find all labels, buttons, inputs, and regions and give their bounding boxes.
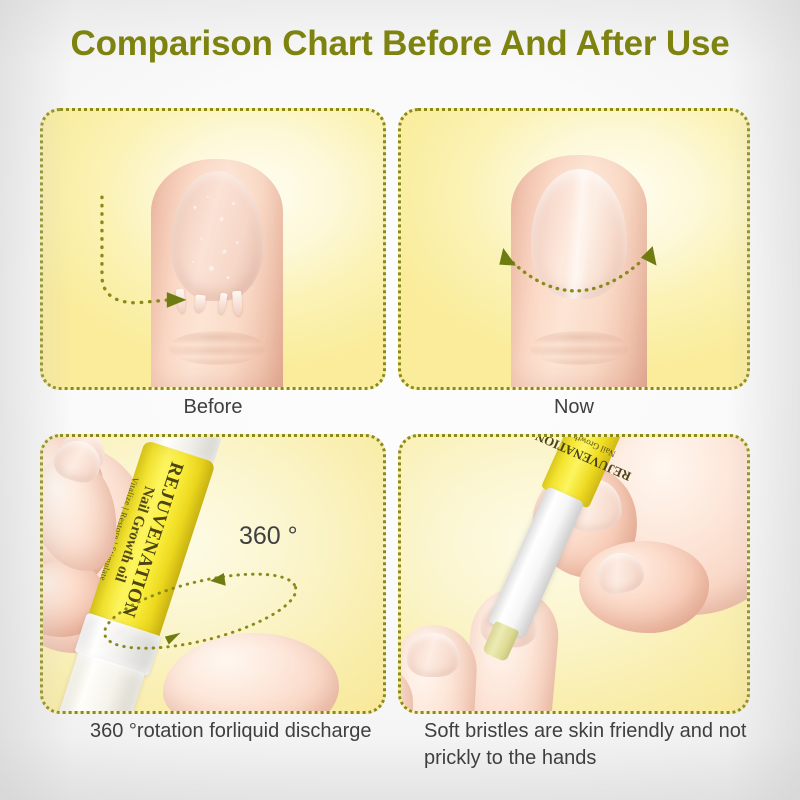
page-title: Comparison Chart Before And After Use — [0, 22, 800, 66]
rotation-photo: REJUVENATION Nail Growth oil Vitalize | … — [43, 437, 383, 711]
panel-before-frame — [40, 108, 386, 390]
panel-before — [40, 108, 386, 390]
before-arrow-annotation — [43, 111, 383, 387]
panel-bristles: REJUVENATION Nail Growth oil — [398, 434, 750, 714]
label-now: Now — [398, 394, 750, 420]
rotation-degree-label: 360 ° — [239, 521, 298, 551]
receiving-nail-second — [407, 633, 459, 677]
holding-finger-middle — [579, 541, 709, 633]
before-photo — [43, 111, 383, 387]
panel-bristles-frame: REJUVENATION Nail Growth oil — [398, 434, 750, 714]
comparison-chart-page: Comparison Chart Before And After Use — [0, 0, 800, 800]
panel-rotation: REJUVENATION Nail Growth oil Vitalize | … — [40, 434, 386, 714]
caption-bristles: Soft bristles are skin friendly and not … — [424, 718, 754, 772]
now-arc-annotation — [401, 111, 747, 387]
panel-now-frame — [398, 108, 750, 390]
now-photo — [401, 111, 747, 387]
rotation-ellipse-annotation — [43, 437, 383, 711]
label-before: Before — [40, 394, 386, 420]
panel-rotation-frame: REJUVENATION Nail Growth oil Vitalize | … — [40, 434, 386, 714]
panel-now — [398, 108, 750, 390]
caption-rotation: 360 °rotation forliquid discharge — [90, 718, 390, 745]
bristles-photo: REJUVENATION Nail Growth oil — [401, 437, 747, 711]
